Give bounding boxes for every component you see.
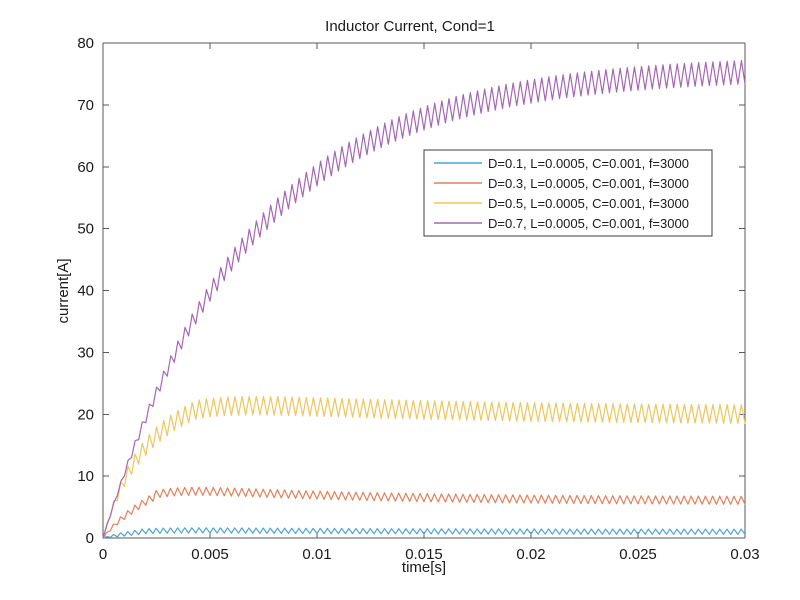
y-tick-label: 20 xyxy=(77,406,94,423)
legend-label-1: D=0.1, L=0.0005, C=0.001, f=3000 xyxy=(488,156,689,171)
y-tick-label: 60 xyxy=(77,159,94,176)
y-tick-label: 50 xyxy=(77,221,94,238)
series-line-3 xyxy=(103,396,745,538)
y-tick-label: 40 xyxy=(77,283,94,300)
x-axis-ticks: 00.0050.010.0150.020.0250.03 xyxy=(99,43,760,563)
chart-plot: Inductor Current, Cond=1 00.0050.010.015… xyxy=(0,0,800,600)
y-tick-label: 30 xyxy=(77,344,94,361)
x-tick-label: 0.005 xyxy=(191,546,229,563)
x-tick-label: 0.01 xyxy=(302,546,331,563)
axis-frame xyxy=(103,43,745,538)
figure-canvas: Inductor Current, Cond=1 00.0050.010.015… xyxy=(0,0,800,600)
y-axis-label: current[A] xyxy=(55,258,72,323)
y-tick-label: 10 xyxy=(77,468,94,485)
series-line-4 xyxy=(103,61,745,538)
y-tick-label: 80 xyxy=(77,35,94,52)
y-axis-ticks: 01020304050607080 xyxy=(77,35,745,547)
legend-label-3: D=0.5, L=0.0005, C=0.001, f=3000 xyxy=(488,196,689,211)
chart-legend[interactable]: D=0.1, L=0.0005, C=0.001, f=3000D=0.3, L… xyxy=(424,150,712,236)
x-tick-label: 0 xyxy=(99,546,107,563)
legend-label-2: D=0.3, L=0.0005, C=0.001, f=3000 xyxy=(488,176,689,191)
legend-label-4: D=0.7, L=0.0005, C=0.001, f=3000 xyxy=(488,216,689,231)
x-tick-label: 0.03 xyxy=(730,546,759,563)
x-tick-label: 0.025 xyxy=(619,546,657,563)
y-tick-label: 0 xyxy=(86,530,94,547)
x-axis-label: time[s] xyxy=(402,559,446,576)
x-tick-label: 0.02 xyxy=(516,546,545,563)
y-tick-label: 70 xyxy=(77,97,94,114)
chart-title: Inductor Current, Cond=1 xyxy=(325,18,495,35)
data-series-group xyxy=(103,61,745,538)
